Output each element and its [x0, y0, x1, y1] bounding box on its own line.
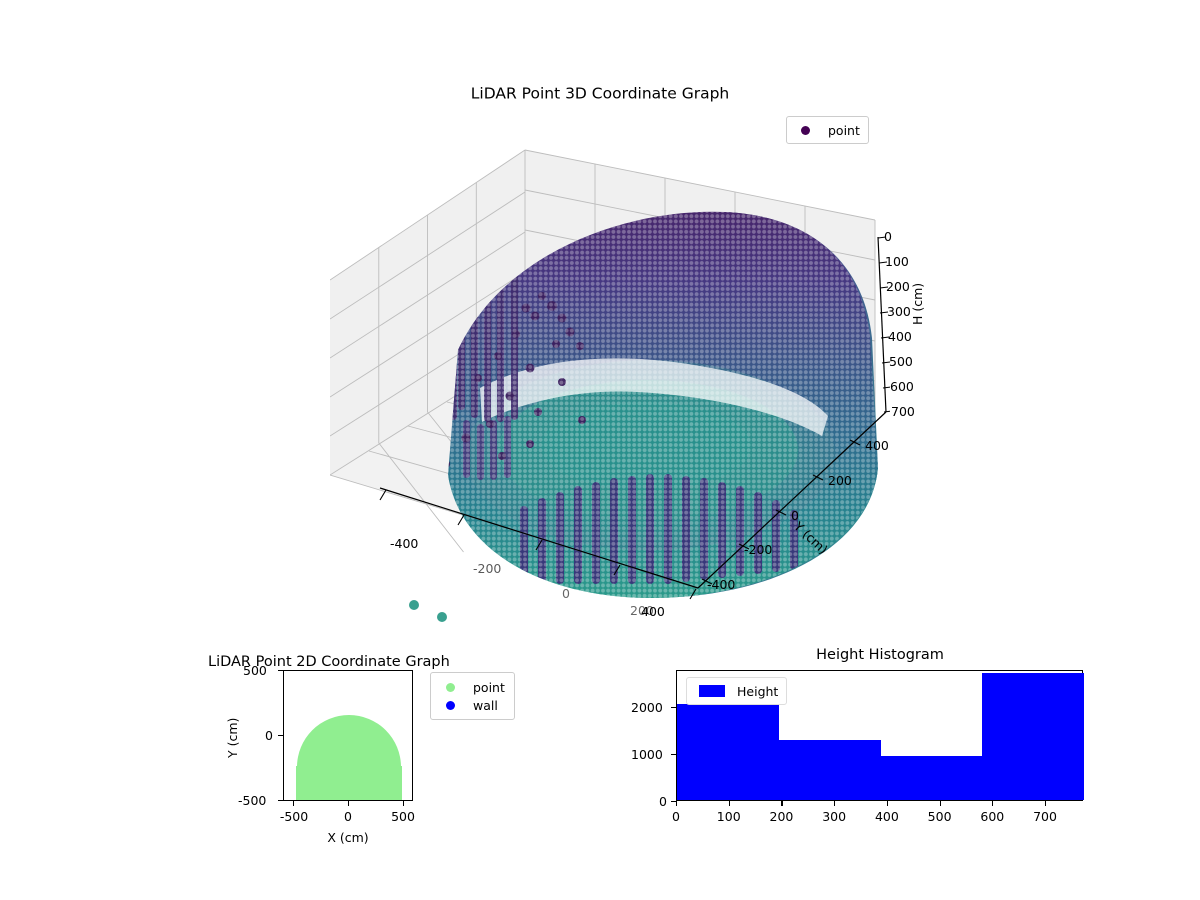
chart-hist-title: Height Histogram — [816, 648, 944, 663]
ax2d-xtick-m500 — [293, 801, 294, 806]
ax2d-ytick-0 — [278, 735, 283, 736]
matplotlib-figure: LiDAR Point 3D Coordinate Graph — [0, 0, 1200, 900]
legend-2d[interactable]: point wall — [430, 672, 515, 720]
h-axis-label: H (cm) — [912, 283, 925, 325]
h-tick-200: 200 — [886, 281, 910, 294]
h-tick-100: 100 — [885, 256, 909, 269]
ax2d-y-axis-label: Y (cm) — [227, 718, 240, 758]
legend-marker-point-icon — [446, 683, 455, 692]
legend-label-wall: wall — [473, 698, 498, 713]
ax2d-ytick-500 — [278, 670, 283, 671]
hist-xlabel-400: 400 — [875, 811, 899, 824]
legend-marker-height-icon — [699, 685, 725, 697]
ax2d-xlabel-500: 500 — [391, 811, 415, 824]
hist-xtick-700 — [1045, 801, 1046, 806]
chart-3d-title: LiDAR Point 3D Coordinate Graph — [471, 86, 729, 102]
hist-ylabel-2000: 2000 — [631, 702, 663, 715]
ax2d-xtick-500 — [403, 801, 404, 806]
hist-ytick-1000 — [671, 754, 676, 755]
ax2d-x-axis-label: X (cm) — [327, 832, 368, 845]
legend-label-point: point — [828, 123, 860, 138]
lidar-3d-plot — [330, 120, 890, 630]
hist-xtick-0 — [676, 801, 677, 806]
ax2d-ylabel-m500: -500 — [238, 795, 266, 808]
hist-xlabel-0: 0 — [672, 811, 680, 824]
hist-xtick-200 — [781, 801, 782, 806]
legend-marker-wall-icon — [446, 701, 455, 710]
hist-xlabel-700: 700 — [1033, 811, 1057, 824]
x-tick-m400: -400 — [390, 538, 418, 551]
ax2d-ylabel-0: 0 — [265, 730, 273, 743]
hist-bar-1[interactable] — [779, 740, 881, 800]
h-tick-500: 500 — [889, 356, 913, 369]
legend-item-point[interactable]: point — [795, 121, 860, 139]
ax2d-xtick-0 — [348, 801, 349, 806]
y-tick-400: 400 — [865, 440, 889, 453]
legend-label-height: Height — [737, 684, 778, 699]
ax2d-xlabel-m500: -500 — [280, 811, 308, 824]
h-tick-400: 400 — [888, 331, 912, 344]
y-tick-200: 200 — [828, 475, 852, 488]
legend-histogram[interactable]: Height — [686, 677, 787, 705]
hist-xlabel-600: 600 — [980, 811, 1004, 824]
legend-3d[interactable]: point — [786, 116, 869, 144]
y-tick-m400: -400 — [707, 579, 735, 592]
hist-xlabel-500: 500 — [928, 811, 952, 824]
hist-xtick-400 — [887, 801, 888, 806]
hist-xlabel-100: 100 — [717, 811, 741, 824]
x-tick-0: 0 — [562, 588, 570, 601]
outlier-points — [409, 600, 447, 622]
h-tick-600: 600 — [890, 381, 914, 394]
lidar-3d-axes[interactable]: 0 100 200 300 400 500 600 700 400 200 0 … — [330, 120, 890, 630]
legend-item-point-2d[interactable]: point — [440, 678, 505, 696]
ax2d-xlabel-0: 0 — [344, 811, 352, 824]
x-tick-400-visible: 400 — [641, 606, 665, 619]
hist-xlabel-300: 300 — [822, 811, 846, 824]
hist-xtick-500 — [940, 801, 941, 806]
hist-bar-2[interactable] — [881, 756, 983, 800]
h-tick-0: 0 — [884, 231, 892, 244]
lidar-2d-axes[interactable] — [283, 670, 413, 801]
hist-bar-3[interactable] — [982, 673, 1084, 800]
hist-xtick-300 — [834, 801, 835, 806]
x-tick-m200: -200 — [473, 563, 501, 576]
hist-ylabel-0: 0 — [659, 796, 667, 809]
ax2d-ytick-m500 — [278, 800, 283, 801]
hist-xtick-100 — [729, 801, 730, 806]
hist-xlabel-200: 200 — [770, 811, 794, 824]
hist-xtick-600 — [992, 801, 993, 806]
h-tick-300: 300 — [887, 306, 911, 319]
point-cloud-2d-base — [296, 766, 402, 801]
y-tick-m200: -200 — [744, 544, 772, 557]
legend-label-point: point — [473, 680, 505, 695]
ax2d-ylabel-500: 500 — [243, 665, 267, 678]
h-tick-700: 700 — [891, 406, 915, 419]
hist-ylabel-1000: 1000 — [631, 749, 663, 762]
legend-item-wall-2d[interactable]: wall — [440, 696, 505, 714]
legend-marker-point-icon — [801, 126, 810, 135]
hist-bar-0[interactable] — [677, 704, 779, 800]
hist-ytick-2000 — [671, 707, 676, 708]
legend-item-height[interactable]: Height — [695, 682, 778, 700]
